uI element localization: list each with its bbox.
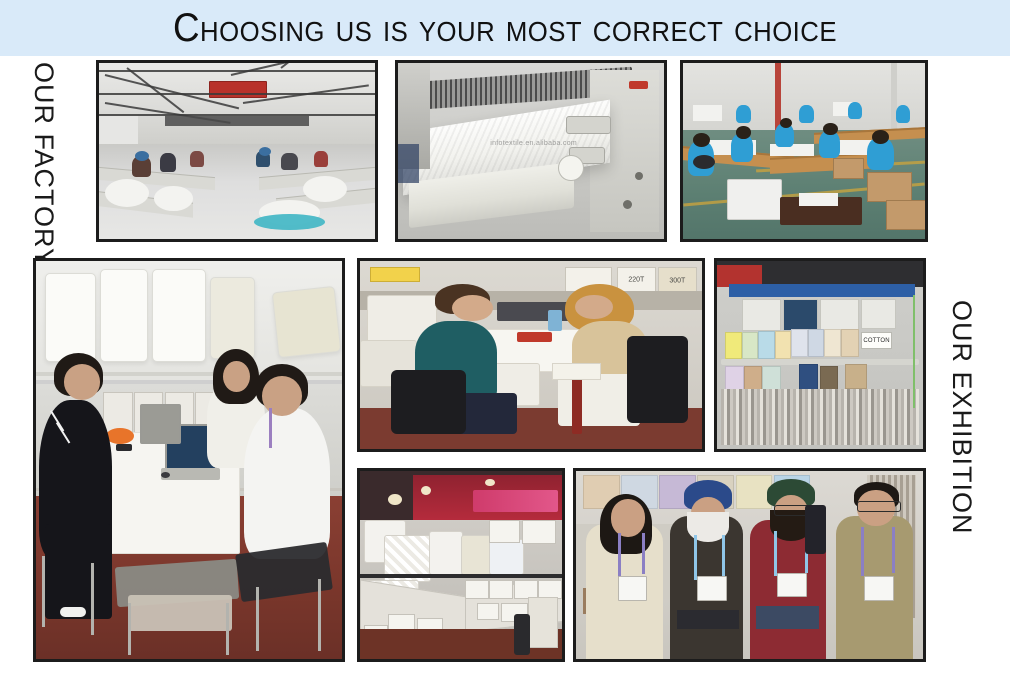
photo-factory-weaving-loom: infotextile.en.alibaba.com [395,60,667,242]
image-watermark: infotextile.en.alibaba.com [467,140,600,147]
wall-label-220t: 220T [618,276,656,283]
promo-banner: Choosing us is your most correct choice … [0,0,1010,677]
page-title: Choosing us is your most correct choice [40,4,969,52]
photo-exhibition-group-photo [573,468,926,662]
photo-factory-sewing-hall [96,60,378,242]
section-label-our-exhibition: OUR EXHIBITION [946,300,977,650]
photo-exhibition-booth-meeting [33,258,345,662]
shelf-label-cotton: COTTON [862,338,891,344]
section-label-our-factory: OUR FACTORY [28,62,59,242]
factory-sign-sewing-area [209,81,266,99]
wall-label-300t: 300T [659,277,697,284]
photo-exhibition-fabric-shelves: COTTON SAMPLE SILK [714,258,926,452]
photo-exhibition-booth-interior [357,468,565,662]
photo-exhibition-client-meeting: 220T 300T [357,258,705,452]
photo-factory-sewing-line [680,60,928,242]
